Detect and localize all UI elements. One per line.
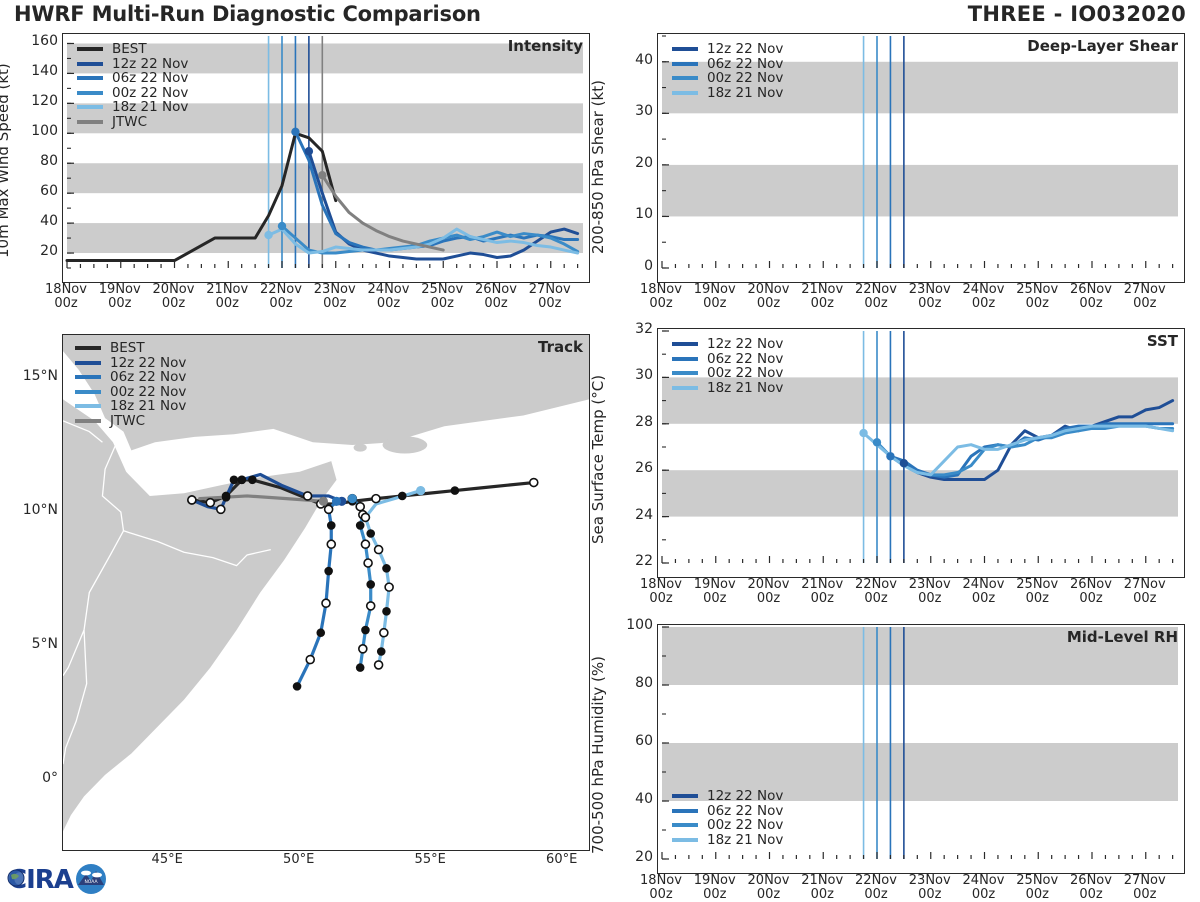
legend-item: 12z 22 Nov [672,337,783,352]
x-tick-label: 27Nov00z [1115,283,1175,311]
track-point-filled [293,682,302,691]
legend-swatch [672,342,698,346]
x-tick-day: 19Nov [685,874,745,888]
page-title: HWRF Multi-Run Diagnostic Comparison [14,2,481,26]
track-point-open [380,629,388,637]
x-tick-day: 23Nov [900,874,960,888]
map-y-tick-label: 15°N [12,368,58,384]
x-tick-label: 19Nov00z [685,283,745,311]
x-tick-label: 22Nov00z [846,283,906,311]
x-tick-label: 18Nov00z [631,578,691,606]
x-tick-day: 21Nov [792,283,852,297]
storm-identifier: THREE - IO032020 [968,2,1186,26]
x-tick-hour: 00z [36,297,96,311]
x-tick-label: 24Nov00z [359,283,419,311]
series-marker [278,222,286,230]
x-tick-day: 24Nov [954,874,1014,888]
y-tick-label: 26 [613,460,653,476]
legend-item: 06z 22 Nov [77,71,188,86]
track-point-filled [327,521,336,530]
legend-item: 06z 22 Nov [75,370,186,385]
track-point-filled [248,476,257,485]
legend-item: 06z 22 Nov [672,804,783,819]
y-tick-label: 32 [613,321,653,337]
intensity-y-axis-label: 10m Max Wind Speed (kt) [0,63,12,258]
track-point-open [217,505,225,513]
series-marker [291,128,299,136]
svg-text:NOAA: NOAA [84,879,98,885]
shear-y-axis-label: 200-850 hPa Shear (kt) [589,80,607,254]
x-tick-label: 27Nov00z [1115,578,1175,606]
x-tick-day: 26Nov [1061,283,1121,297]
x-tick-hour: 00z [954,297,1014,311]
legend-swatch [672,76,698,80]
legend-label: 18z 21 Nov [707,380,783,396]
track-point-open [375,546,383,554]
track-point-open [530,479,538,487]
legend-swatch [672,823,698,827]
x-tick-hour: 00z [739,297,799,311]
x-tick-day: 27Nov [1115,874,1175,888]
x-tick-label: 19Nov00z [685,874,745,902]
x-tick-day: 22Nov [846,578,906,592]
x-tick-label: 23Nov00z [900,874,960,902]
track-legend: BEST12z 22 Nov06z 22 Nov00z 22 Nov18z 21… [75,341,186,428]
series-marker [318,171,326,179]
legend-swatch [672,386,698,390]
x-tick-day: 19Nov [90,283,150,297]
x-tick-day: 26Nov [1061,874,1121,888]
x-tick-hour: 00z [359,297,419,311]
track-init-marker [319,497,328,506]
legend-item: BEST [77,42,188,57]
x-tick-hour: 00z [305,297,365,311]
x-tick-day: 23Nov [900,283,960,297]
legend-swatch [77,76,103,80]
track-point-open [206,499,214,507]
y-tick-label: 30 [613,367,653,383]
x-tick-hour: 00z [631,592,691,606]
rh-panel: Mid-Level RH12z 22 Nov06z 22 Nov00z 22 N… [657,624,1185,874]
x-tick-label: 27Nov00z [520,283,580,311]
series-marker [859,429,867,437]
x-tick-label: 24Nov00z [954,578,1014,606]
x-tick-label: 21Nov00z [792,874,852,902]
legend-swatch [77,62,103,66]
x-tick-label: 22Nov00z [846,874,906,902]
y-tick-label: 20 [613,849,653,865]
x-tick-label: 18Nov00z [36,283,96,311]
legend-swatch [75,346,101,350]
y-tick-label: 20 [613,155,653,171]
map-y-tick-label: 5°N [12,636,58,652]
x-tick-day: 21Nov [197,283,257,297]
legend-swatch [77,47,103,51]
track-point-filled [382,607,391,616]
track-point-filled [451,486,460,495]
x-tick-day: 21Nov [792,578,852,592]
x-tick-day: 22Nov [846,283,906,297]
y-tick-label: 160 [18,33,58,49]
legend-item: 00z 22 Nov [75,385,186,400]
x-tick-day: 27Nov [1115,283,1175,297]
x-tick-hour: 00z [412,297,472,311]
x-tick-day: 25Nov [1007,578,1067,592]
series-line [877,426,1173,475]
x-tick-label: 23Nov00z [305,283,365,311]
track-point-open [367,602,375,610]
series-marker [305,147,313,155]
track-line [365,491,420,665]
x-tick-day: 19Nov [685,283,745,297]
map-x-tick-label: 45°E [137,853,197,867]
x-tick-hour: 00z [1007,297,1067,311]
track-point-filled [316,628,325,637]
x-tick-label: 26Nov00z [1061,283,1121,311]
legend-label: 18z 21 Nov [707,85,783,101]
x-tick-hour: 00z [900,592,960,606]
x-tick-hour: 00z [900,297,960,311]
x-tick-hour: 00z [954,592,1014,606]
x-tick-day: 18Nov [631,578,691,592]
x-tick-label: 19Nov00z [685,578,745,606]
x-tick-hour: 00z [1061,592,1121,606]
map-y-tick-label: 0° [12,770,58,786]
intensity-panel: IntensityBEST12z 22 Nov06z 22 Nov00z 22 … [62,33,590,283]
x-tick-hour: 00z [792,297,852,311]
legend-swatch [75,390,101,394]
x-tick-label: 23Nov00z [900,578,960,606]
legend-swatch [75,404,101,408]
track-point-open [372,495,380,503]
legend-item: 18z 21 Nov [672,86,783,101]
legend-item: 06z 22 Nov [672,57,783,72]
x-tick-hour: 00z [251,297,311,311]
y-tick-label: 28 [613,414,653,430]
x-tick-day: 22Nov [846,874,906,888]
track-point-open [375,661,383,669]
x-tick-day: 24Nov [359,283,419,297]
x-tick-hour: 00z [792,592,852,606]
y-tick-label: 80 [18,153,58,169]
track-panel: TrackBEST12z 22 Nov06z 22 Nov00z 22 Nov1… [62,334,590,851]
legend-swatch [75,419,101,423]
track-point-open [385,583,393,591]
legend-label: 18z 21 Nov [707,832,783,848]
legend-item: JTWC [77,115,188,130]
x-tick-hour: 00z [144,297,204,311]
y-tick-label: 120 [18,93,58,109]
x-tick-day: 27Nov [1115,578,1175,592]
x-tick-day: 20Nov [739,283,799,297]
series-marker [900,459,908,467]
legend-item: 12z 22 Nov [77,57,188,72]
x-tick-hour: 00z [1061,297,1121,311]
y-tick-label: 40 [613,791,653,807]
legend-item: 00z 22 Nov [672,71,783,86]
cira-logo: CIRA NOAA [6,858,108,898]
x-tick-day: 26Nov [466,283,526,297]
x-tick-label: 21Nov00z [792,283,852,311]
track-point-filled [356,663,365,672]
shear-legend: 12z 22 Nov06z 22 Nov00z 22 Nov18z 21 Nov [672,42,783,100]
legend-swatch [672,47,698,51]
track-point-open [322,599,330,607]
track-init-marker [348,494,357,503]
track-point-filled [361,626,370,635]
track-point-open [306,656,314,664]
y-tick-label: 100 [613,617,653,633]
x-tick-label: 25Nov00z [1007,283,1067,311]
x-tick-hour: 00z [1115,592,1175,606]
x-tick-hour: 00z [631,297,691,311]
diagnostic-comparison-page: HWRF Multi-Run Diagnostic Comparison THR… [0,0,1200,900]
legend-item: 00z 22 Nov [672,818,783,833]
sst-legend: 12z 22 Nov06z 22 Nov00z 22 Nov18z 21 Nov [672,337,783,395]
legend-swatch [672,91,698,95]
track-point-open [188,496,196,504]
x-tick-day: 25Nov [1007,283,1067,297]
x-tick-day: 19Nov [685,578,745,592]
legend-swatch [75,375,101,379]
x-tick-label: 25Nov00z [1007,874,1067,902]
legend-item: 18z 21 Nov [77,100,188,115]
x-tick-hour: 00z [1007,592,1067,606]
intensity-legend: BEST12z 22 Nov06z 22 Nov00z 22 Nov18z 21… [77,42,188,129]
x-tick-label: 22Nov00z [846,578,906,606]
legend-swatch [77,91,103,95]
track-point-open [327,540,335,548]
track-point-filled [356,521,365,530]
map-y-tick-label: 10°N [12,502,58,518]
x-tick-label: 18Nov00z [631,283,691,311]
legend-item: 06z 22 Nov [672,352,783,367]
legend-label: JTWC [110,413,145,429]
legend-swatch [672,62,698,66]
legend-swatch [672,809,698,813]
x-tick-label: 21Nov00z [197,283,257,311]
x-tick-day: 27Nov [520,283,580,297]
x-tick-day: 23Nov [900,578,960,592]
legend-item: 18z 21 Nov [672,381,783,396]
track-point-filled [382,564,391,573]
track-point-open [325,505,333,513]
legend-item: 00z 22 Nov [672,366,783,381]
track-point-open [304,492,312,500]
legend-swatch [672,794,698,798]
legend-swatch [75,361,101,365]
y-tick-label: 22 [613,553,653,569]
track-point-filled [238,476,247,485]
x-tick-hour: 00z [846,297,906,311]
rh-y-axis-label: 700-500 hPa Humidity (%) [589,656,607,854]
x-tick-day: 20Nov [739,874,799,888]
series-line [864,426,1173,475]
x-tick-label: 20Nov00z [144,283,204,311]
map-x-tick-label: 55°E [400,853,460,867]
legend-item: 12z 22 Nov [672,42,783,57]
x-tick-hour: 00z [197,297,257,311]
track-point-filled [222,493,231,502]
track-point-filled [230,476,239,485]
legend-swatch [77,120,103,124]
map-x-tick-label: 60°E [532,853,592,867]
track-point-filled [366,529,375,538]
x-tick-day: 24Nov [954,578,1014,592]
series-marker [873,438,881,446]
legend-label: JTWC [112,114,147,130]
y-tick-label: 10 [613,206,653,222]
legend-swatch [672,357,698,361]
y-tick-label: 0 [613,258,653,274]
x-tick-day: 24Nov [954,283,1014,297]
x-tick-label: 24Nov00z [954,283,1014,311]
x-tick-day: 26Nov [1061,578,1121,592]
x-tick-hour: 00z [466,297,526,311]
x-tick-day: 20Nov [144,283,204,297]
track-point-open [361,540,369,548]
x-tick-hour: 00z [739,592,799,606]
series-line [890,424,1172,477]
y-tick-label: 40 [613,52,653,68]
x-tick-hour: 00z [846,592,906,606]
x-tick-label: 24Nov00z [954,874,1014,902]
y-tick-label: 100 [18,123,58,139]
x-tick-label: 26Nov00z [1061,874,1121,902]
x-tick-label: 26Nov00z [466,283,526,311]
intensity-title: Intensity [508,37,583,55]
x-tick-hour: 00z [685,297,745,311]
legend-swatch [672,838,698,842]
x-tick-day: 21Nov [792,874,852,888]
y-tick-label: 20 [18,243,58,259]
series-marker [886,452,894,460]
y-tick-label: 80 [613,675,653,691]
track-point-open [356,503,364,511]
map-x-tick-label: 50°E [269,853,329,867]
x-tick-label: 27Nov00z [1115,874,1175,902]
shear-panel: Deep-Layer Shear12z 22 Nov06z 22 Nov00z … [657,33,1185,283]
track-init-marker [332,497,341,506]
rh-legend: 12z 22 Nov06z 22 Nov00z 22 Nov18z 21 Nov [672,789,783,847]
sst-title: SST [1147,332,1178,350]
legend-swatch [672,371,698,375]
legend-item: 12z 22 Nov [75,356,186,371]
y-tick-label: 24 [613,507,653,523]
x-tick-hour: 00z [1115,297,1175,311]
x-tick-hour: 00z [520,297,580,311]
y-tick-label: 40 [18,213,58,229]
legend-item: 00z 22 Nov [77,86,188,101]
x-tick-label: 18Nov00z [631,874,691,902]
x-tick-day: 18Nov [36,283,96,297]
x-tick-label: 25Nov00z [412,283,472,311]
x-tick-day: 18Nov [631,874,691,888]
x-tick-hour: 00z [685,592,745,606]
x-tick-day: 20Nov [739,578,799,592]
legend-swatch [77,105,103,109]
track-title: Track [538,338,583,356]
x-tick-label: 19Nov00z [90,283,150,311]
x-tick-day: 25Nov [1007,874,1067,888]
legend-item: 12z 22 Nov [672,789,783,804]
track-init-marker [416,486,425,495]
x-tick-label: 20Nov00z [739,283,799,311]
legend-item: BEST [75,341,186,356]
y-tick-label: 60 [613,733,653,749]
y-tick-label: 30 [613,103,653,119]
legend-item: 18z 21 Nov [75,399,186,414]
x-tick-day: 25Nov [412,283,472,297]
x-tick-label: 25Nov00z [1007,578,1067,606]
track-point-filled [366,580,375,589]
x-tick-label: 23Nov00z [900,283,960,311]
track-point-open [361,513,369,521]
x-tick-label: 21Nov00z [792,578,852,606]
sst-y-axis-label: Sea Surface Temp (°C) [589,375,607,544]
track-point-open [364,559,372,567]
x-tick-label: 22Nov00z [251,283,311,311]
y-tick-label: 140 [18,63,58,79]
x-tick-day: 18Nov [631,283,691,297]
rh-title: Mid-Level RH [1067,628,1178,646]
series-marker [264,231,272,239]
sst-panel: SST12z 22 Nov06z 22 Nov00z 22 Nov18z 21 … [657,328,1185,578]
shear-title: Deep-Layer Shear [1027,37,1178,55]
y-tick-label: 60 [18,183,58,199]
x-tick-hour: 00z [90,297,150,311]
x-tick-label: 26Nov00z [1061,578,1121,606]
track-point-filled [324,567,333,576]
track-point-open [359,645,367,653]
x-tick-day: 23Nov [305,283,365,297]
legend-item: 18z 21 Nov [672,833,783,848]
track-point-filled [377,647,386,656]
x-tick-day: 22Nov [251,283,311,297]
legend-item: JTWC [75,414,186,429]
track-point-filled [398,492,407,501]
x-tick-label: 20Nov00z [739,874,799,902]
x-tick-label: 20Nov00z [739,578,799,606]
